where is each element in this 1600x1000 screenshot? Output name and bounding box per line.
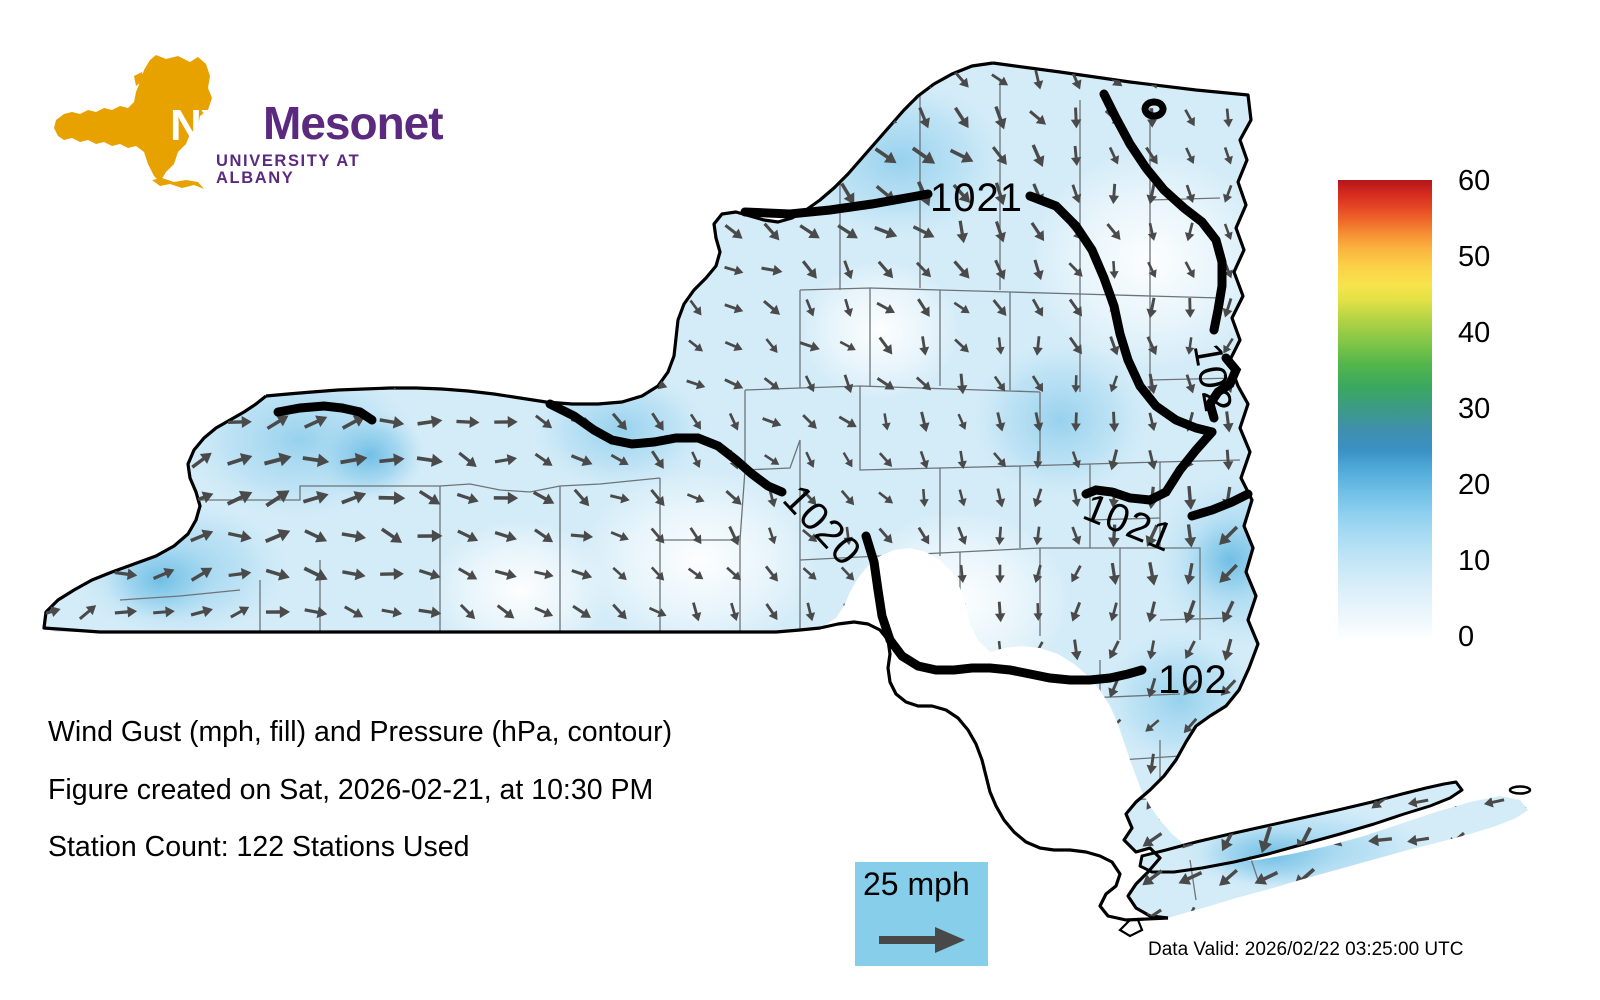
colorbar-tick-50: 50 <box>1458 243 1490 272</box>
contour-label-1021-north: 1021 <box>930 178 1023 218</box>
reference-arrow-label: 25 mph <box>863 868 970 900</box>
figure-caption: Wind Gust (mph, fill) and Pressure (hPa,… <box>48 718 868 891</box>
data-valid-footer: Data Valid: 2026/02/22 03:25:00 UTC <box>1148 940 1463 959</box>
figure-canvas: NYS Mesonet UNIVERSITY AT ALBANY <box>0 0 1600 1000</box>
reference-arrow-icon <box>877 924 969 956</box>
colorbar-tick-20: 20 <box>1458 471 1490 500</box>
colorbar-tick-30: 30 <box>1458 395 1490 424</box>
gust-colorbar <box>1338 180 1432 638</box>
colorbar-tick-60: 60 <box>1458 167 1490 196</box>
colorbar-group: 60 50 40 30 20 10 0 <box>1338 180 1578 640</box>
colorbar-tick-0: 0 <box>1458 623 1474 652</box>
contour-label-102-south: 102 <box>1158 660 1228 700</box>
colorbar-tick-10: 10 <box>1458 547 1490 576</box>
colorbar-tick-40: 40 <box>1458 319 1490 348</box>
reference-arrow-legend: 25 mph <box>855 862 988 966</box>
caption-created: Figure created on Sat, 2026-02-21, at 10… <box>48 776 868 805</box>
caption-station-count: Station Count: 122 Stations Used <box>48 833 868 862</box>
caption-title: Wind Gust (mph, fill) and Pressure (hPa,… <box>48 718 868 747</box>
